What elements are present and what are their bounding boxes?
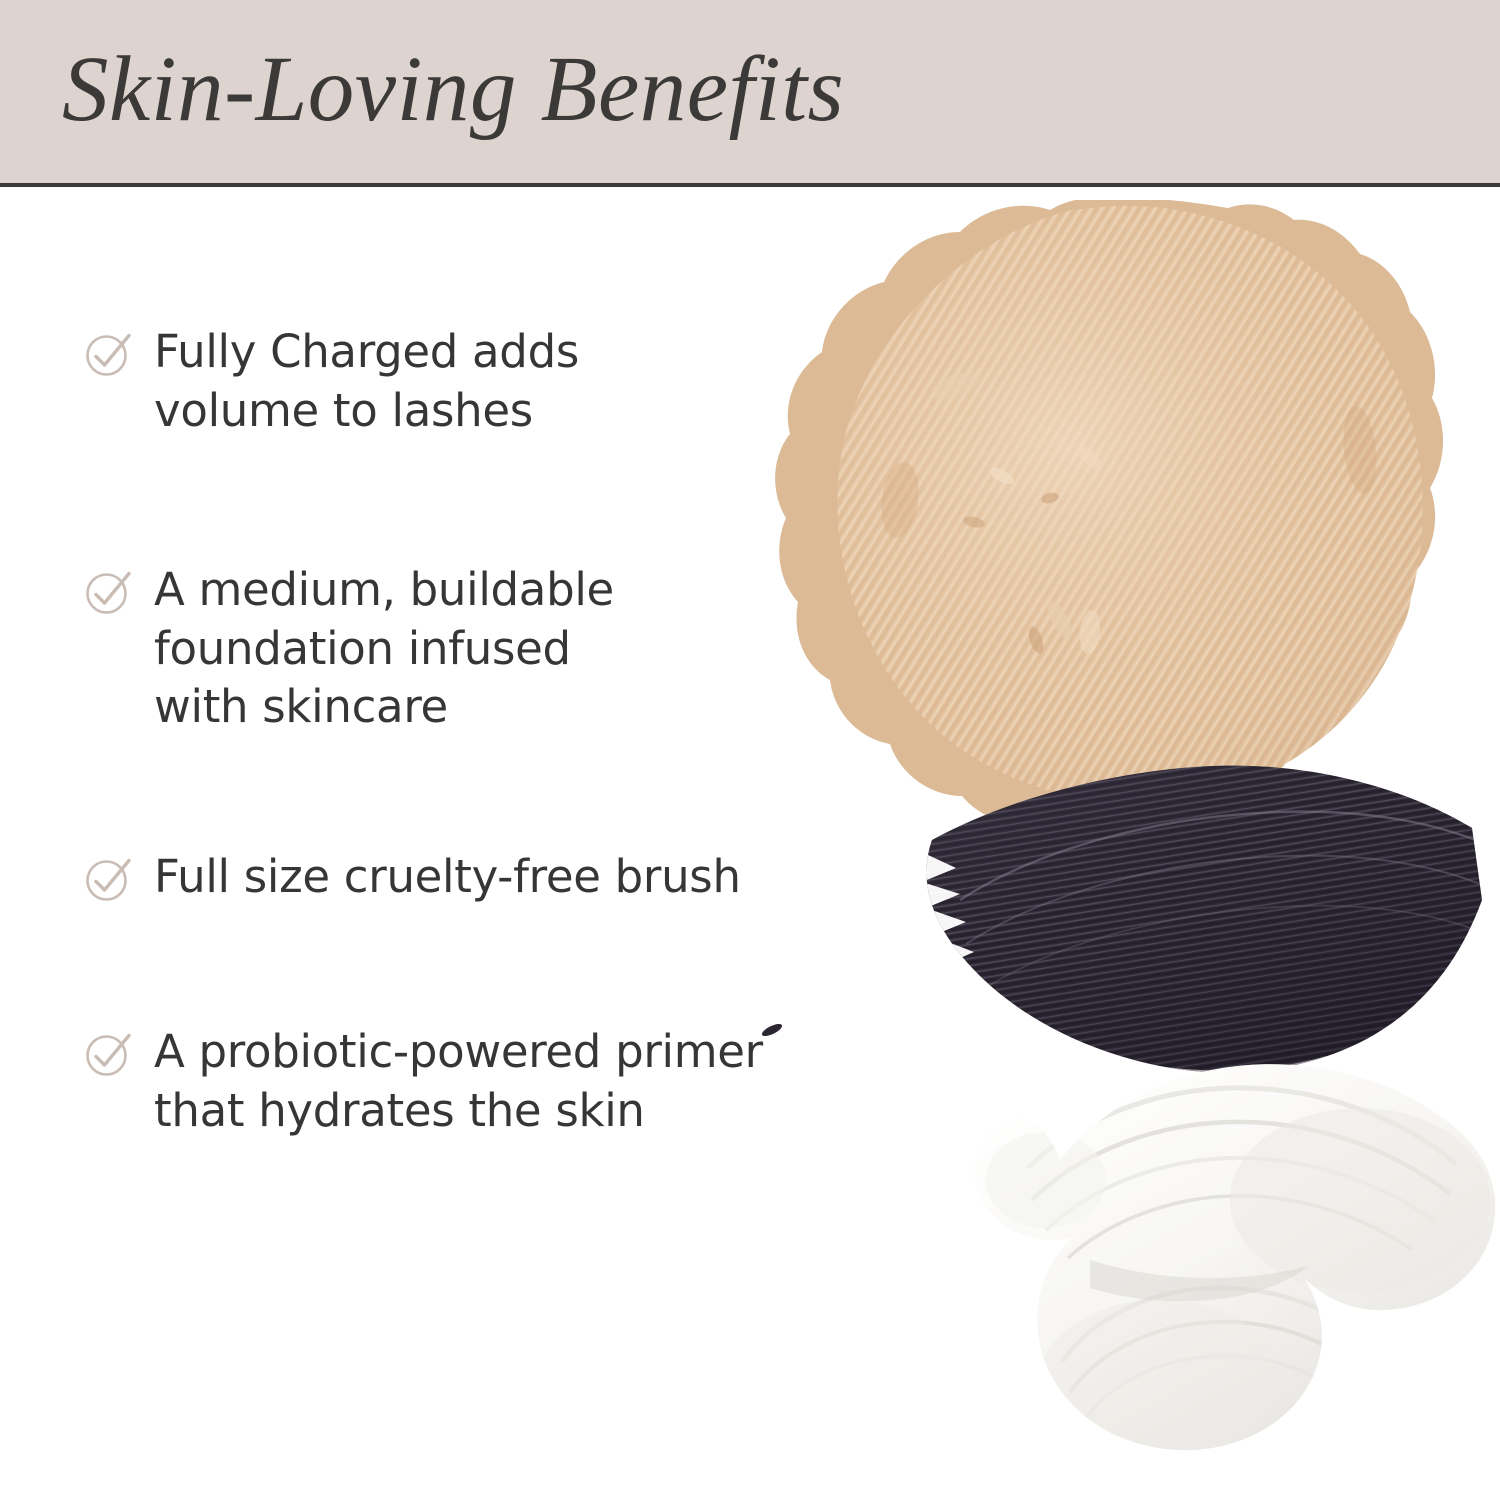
check-circle-icon xyxy=(82,1027,134,1079)
benefit-item: Full size cruelty-free brush xyxy=(82,848,741,907)
benefit-item: A probiotic-powered primer that hydrates… xyxy=(82,1023,763,1140)
benefit-text: A probiotic-powered primer that hydrates… xyxy=(154,1023,763,1140)
benefit-item: A medium, buildable foundation infused w… xyxy=(82,561,614,737)
check-circle-icon xyxy=(82,565,134,617)
product-swatch-collage xyxy=(760,200,1500,1500)
check-circle-icon xyxy=(82,327,134,379)
benefit-text: Full size cruelty-free brush xyxy=(154,848,741,907)
check-circle-icon xyxy=(82,852,134,904)
benefits-infographic: Skin-Loving Benefits Fully Charged adds … xyxy=(0,0,1500,1500)
benefit-text: Fully Charged adds volume to lashes xyxy=(154,323,579,440)
benefit-item: Fully Charged adds volume to lashes xyxy=(82,323,579,440)
primer-cream-swatch xyxy=(975,1064,1496,1460)
benefit-text: A medium, buildable foundation infused w… xyxy=(154,561,614,737)
page-title: Skin-Loving Benefits xyxy=(62,35,844,145)
mascara-stroke-swatch xyxy=(760,740,1500,1120)
